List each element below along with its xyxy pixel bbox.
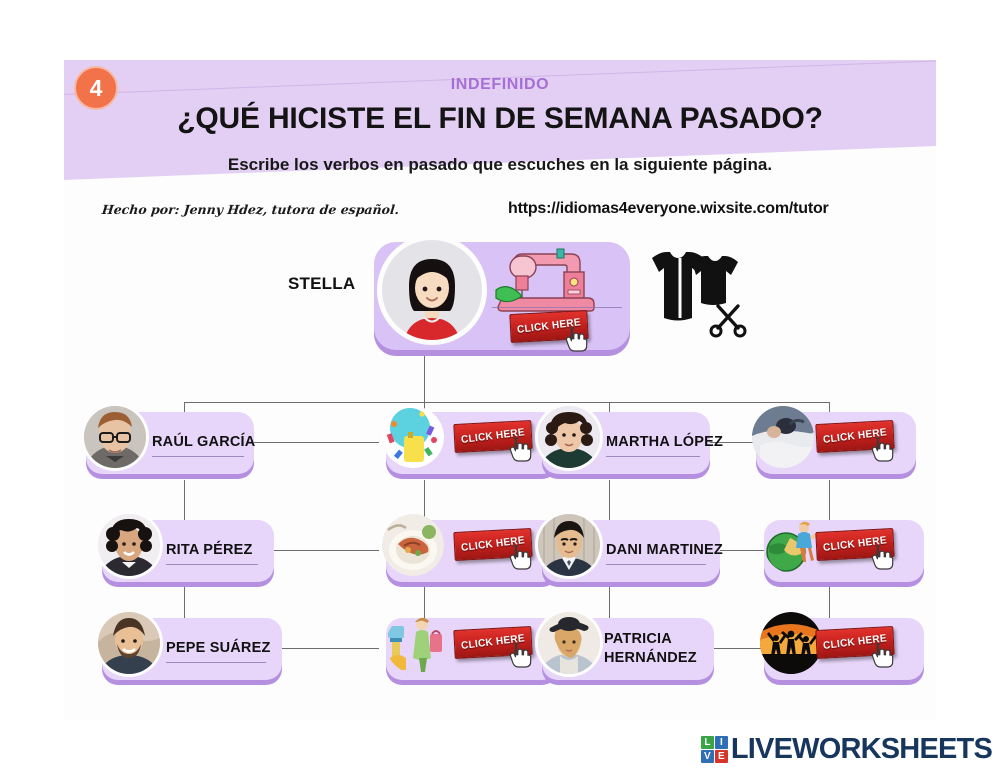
connector-row1-left bbox=[249, 442, 379, 443]
node-patricia-hernandez-label-line2: HERNÁNDEZ bbox=[604, 649, 697, 668]
dani-martinez-photo bbox=[538, 514, 600, 576]
hand-cursor-icon-r2c2 bbox=[508, 544, 532, 571]
node-pepe-suarez-label: PEPE SUÁREZ bbox=[166, 640, 271, 657]
stella-avatar bbox=[382, 240, 482, 340]
connector-root-spine bbox=[184, 402, 829, 403]
sleeping-person-illustration bbox=[752, 406, 814, 468]
hand-cursor-icon-r2c4 bbox=[870, 544, 894, 571]
node-dani-martinez-label: DANI MARTINEZ bbox=[606, 542, 723, 559]
martha-lopez-photo bbox=[538, 406, 600, 468]
node-martha-lopez-label: MARTHA LÓPEZ bbox=[606, 434, 723, 451]
rita-perez-avatar bbox=[98, 514, 160, 576]
hand-cursor-art bbox=[870, 436, 894, 463]
node-raul-garcia-underline bbox=[152, 456, 244, 457]
stella-avatar-art bbox=[382, 240, 482, 340]
sleeping-person-art bbox=[752, 406, 814, 468]
shopping-people-art bbox=[386, 614, 448, 674]
logo-tile-e: E bbox=[715, 750, 728, 763]
patricia-hernandez-avatar bbox=[538, 612, 600, 674]
hand-cursor-art bbox=[508, 642, 532, 669]
worksheet-page: 4 INDEFINIDO ¿QUÉ HICISTE EL FIN DE SEMA… bbox=[0, 0, 1000, 772]
logo-tile-v: V bbox=[701, 750, 714, 763]
node-martha-lopez-underline bbox=[606, 456, 700, 457]
rita-perez-photo bbox=[98, 514, 160, 576]
liveworksheets-wordmark: LIVEWORKSHEETS bbox=[731, 733, 992, 766]
node-dani-martinez-underline bbox=[606, 564, 706, 565]
shopping-people-illustration bbox=[386, 614, 448, 674]
party-confetti-art bbox=[382, 406, 444, 468]
pepe-suarez-photo bbox=[98, 612, 160, 674]
liveworksheets-logo-tiles: L I V E bbox=[701, 736, 728, 763]
hand-cursor-icon-r1c2 bbox=[508, 436, 532, 463]
node-patricia-hernandez-label: PATRICIA HERNÁNDEZ bbox=[604, 630, 697, 668]
hand-cursor-art bbox=[870, 544, 894, 571]
hand-cursor-art bbox=[870, 642, 894, 669]
root-label: STELLA bbox=[288, 275, 355, 292]
clothes-and-scissors-graphic bbox=[640, 244, 748, 340]
party-silhouette-sunset-illustration bbox=[760, 612, 822, 674]
worksheet-sheet: 4 INDEFINIDO ¿QUÉ HICISTE EL FIN DE SEMA… bbox=[64, 60, 936, 720]
hand-cursor-art bbox=[508, 544, 532, 571]
mindmap-tree: STELLA bbox=[64, 60, 936, 720]
node-rita-perez-underline bbox=[166, 564, 258, 565]
node-pepe-suarez-underline bbox=[166, 662, 266, 663]
node-raul-garcia-label: RAÚL GARCÍA bbox=[152, 434, 255, 451]
hand-cursor-icon-r3c4 bbox=[870, 642, 894, 669]
raul-garcia-photo bbox=[84, 406, 146, 468]
cooking-food-illustration bbox=[382, 514, 444, 576]
hand-cursor-icon-r1c4 bbox=[870, 436, 894, 463]
logo-tile-l: L bbox=[701, 736, 714, 749]
raul-garcia-avatar bbox=[84, 406, 146, 468]
dani-martinez-avatar bbox=[538, 514, 600, 576]
party-silhouette-art bbox=[760, 612, 822, 674]
node-rita-perez-label: RITA PÉREZ bbox=[166, 542, 253, 559]
clothes-scissors-art bbox=[640, 244, 748, 340]
cooking-food-art bbox=[382, 514, 444, 576]
root-hand-cursor-icon bbox=[564, 326, 588, 353]
martha-lopez-avatar bbox=[538, 406, 600, 468]
hand-cursor-icon-r3c2 bbox=[508, 642, 532, 669]
patricia-hernandez-photo bbox=[538, 612, 600, 674]
liveworksheets-logo[interactable]: L I V E LIVEWORKSHEETS bbox=[701, 733, 992, 766]
node-patricia-hernandez-label-line1: PATRICIA bbox=[604, 630, 697, 649]
party-confetti-illustration bbox=[382, 406, 444, 468]
root-divider bbox=[492, 307, 622, 308]
logo-tile-i: I bbox=[715, 736, 728, 749]
pepe-suarez-avatar bbox=[98, 612, 160, 674]
hand-cursor-art bbox=[564, 326, 588, 353]
connector-root-stem bbox=[424, 350, 425, 402]
hand-cursor-art bbox=[508, 436, 532, 463]
